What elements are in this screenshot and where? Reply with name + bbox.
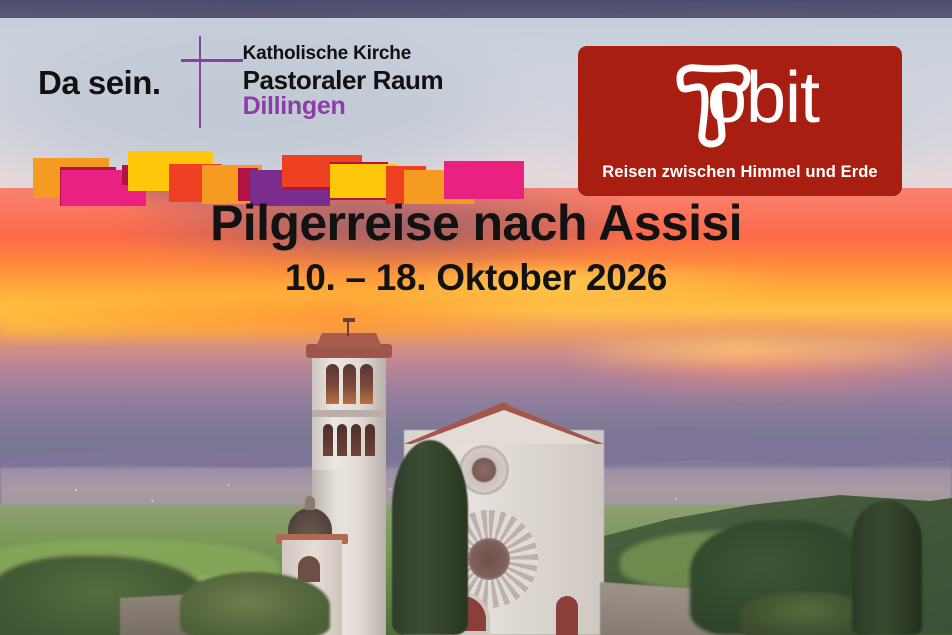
page-subtitle-dates: 10. – 18. Oktober 2026 — [0, 257, 952, 300]
parish-claim: Da sein. — [38, 66, 161, 99]
weather-vane-icon — [343, 318, 355, 322]
cypress-tree-right — [852, 500, 922, 635]
parish-logo: Da sein. Katholische Kirche Pastoraler R… — [38, 42, 443, 122]
mosaic-tile — [444, 161, 524, 199]
foreground-shrub — [740, 592, 870, 635]
parish-line-dillingen: Dillingen — [243, 93, 444, 120]
cypress-tree-foreground — [392, 440, 468, 635]
basilica-rose-window-center — [468, 538, 510, 580]
foreground-shrub — [180, 572, 330, 635]
campanile-belfry-arches — [320, 364, 378, 404]
tobit-wordmark: obit — [578, 62, 902, 134]
header-band: Da sein. Katholische Kirche Pastoraler R… — [0, 18, 952, 188]
cloud-streak-horizon-left — [0, 300, 560, 334]
parish-logo-text: Katholische Kirche Pastoraler Raum Dilli… — [243, 44, 444, 120]
parish-line-pastoraler-raum: Pastoraler Raum — [243, 66, 444, 94]
campanile-lower-arches — [318, 424, 380, 456]
dome-lantern — [305, 496, 315, 510]
basilica-oculus-window — [462, 448, 506, 492]
campanile-roof — [316, 333, 382, 347]
tobit-logo: obit Reisen zwischen Himmel und Erde — [578, 46, 902, 196]
parish-line-katholische-kirche: Katholische Kirche — [243, 44, 444, 65]
cloud-low-right — [560, 330, 952, 400]
title-block: Pilgerreise nach Assisi 10. – 18. Oktobe… — [0, 196, 952, 300]
campanile-string-course — [312, 410, 386, 417]
chapel-arch-window — [298, 556, 320, 582]
page-title: Pilgerreise nach Assisi — [0, 196, 952, 251]
cross-icon — [173, 36, 227, 128]
tobit-tagline: Reisen zwischen Himmel und Erde — [578, 163, 902, 182]
basilica-side-door — [556, 596, 578, 635]
pilgrimage-poster: Da sein. Katholische Kirche Pastoraler R… — [0, 0, 952, 635]
